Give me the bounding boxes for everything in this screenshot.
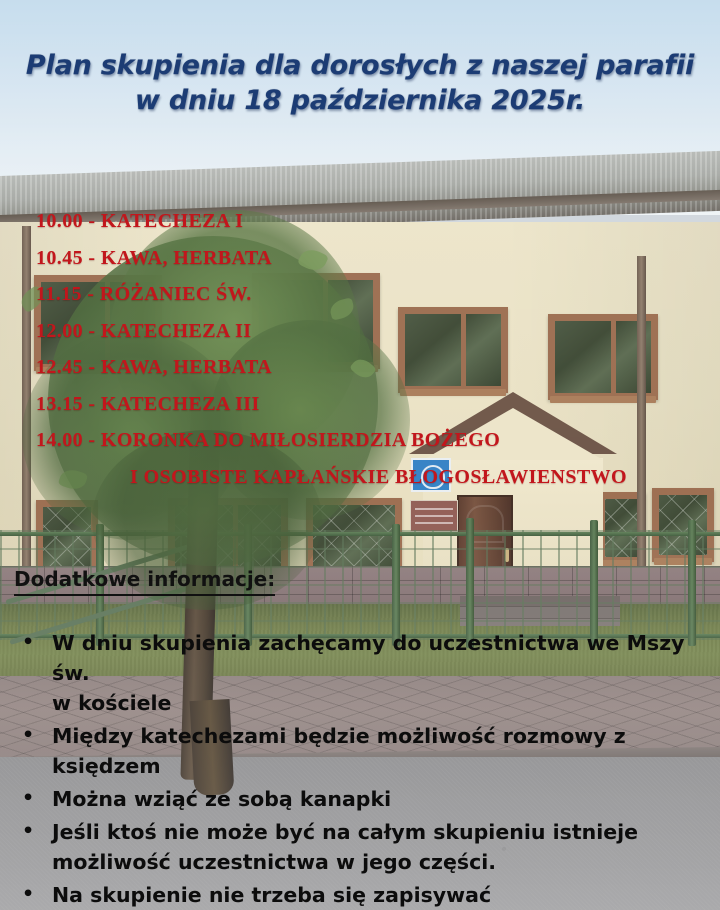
list-item: W dniu skupienia zachęcamy do uczestnict… bbox=[14, 628, 720, 718]
bullet-line: Na skupienie nie trzeba się zapisywać bbox=[52, 880, 720, 910]
list-item: Można wziąć ze sobą kanapki bbox=[14, 784, 720, 814]
poster-content: Plan skupienia dla dorosłych z naszej pa… bbox=[0, 0, 720, 910]
schedule-item: 12.00 - KATECHEZA II bbox=[36, 313, 708, 350]
bullet-line: możliwość uczestnictwa w jego części. bbox=[52, 847, 720, 877]
title-line-1: Plan skupienia dla dorosłych z naszej pa… bbox=[26, 50, 694, 81]
extra-info-heading: Dodatkowe informacje: bbox=[14, 565, 275, 596]
list-item: Na skupienie nie trzeba się zapisywać bbox=[14, 880, 720, 910]
bullet-line: Jeśli ktoś nie może być na całym skupien… bbox=[52, 817, 720, 847]
schedule-list: 10.00 - KATECHEZA I 10.45 - KAWA, HERBAT… bbox=[36, 203, 708, 495]
list-item: Między katechezami będzie możliwość rozm… bbox=[14, 721, 720, 781]
bullet-line: Można wziąć ze sobą kanapki bbox=[52, 784, 720, 814]
bullet-line: w kościele bbox=[52, 688, 720, 718]
schedule-item: 10.00 - KATECHEZA I bbox=[36, 203, 708, 240]
schedule-item: 11.15 - RÓŻANIEC ŚW. bbox=[36, 276, 708, 313]
schedule-item: 13.15 - KATECHEZA III bbox=[36, 386, 708, 423]
schedule-item: 12.45 - KAWA, HERBATA bbox=[36, 349, 708, 386]
schedule-item-continuation: I OSOBISTE KAPŁAŃSKIE BŁOGOSŁAWIENSTWO bbox=[36, 459, 708, 496]
list-item: Jeśli ktoś nie może być na całym skupien… bbox=[14, 817, 720, 877]
bullet-line: Między katechezami będzie możliwość rozm… bbox=[52, 721, 720, 781]
title-line-2: w dniu 18 października 2025r. bbox=[0, 83, 720, 118]
bullet-line: W dniu skupienia zachęcamy do uczestnict… bbox=[52, 628, 720, 688]
poster-root: Plan skupienia dla dorosłych z naszej pa… bbox=[0, 0, 720, 910]
extra-info-bullets: W dniu skupienia zachęcamy do uczestnict… bbox=[14, 628, 720, 910]
extra-info-section: Dodatkowe informacje: bbox=[14, 565, 714, 596]
schedule-item: 10.45 - KAWA, HERBATA bbox=[36, 240, 708, 277]
schedule-item: 14.00 - KORONKA DO MIŁOSIERDZIA BOŻEGO bbox=[36, 422, 708, 459]
page-title: Plan skupienia dla dorosłych z naszej pa… bbox=[0, 48, 720, 118]
